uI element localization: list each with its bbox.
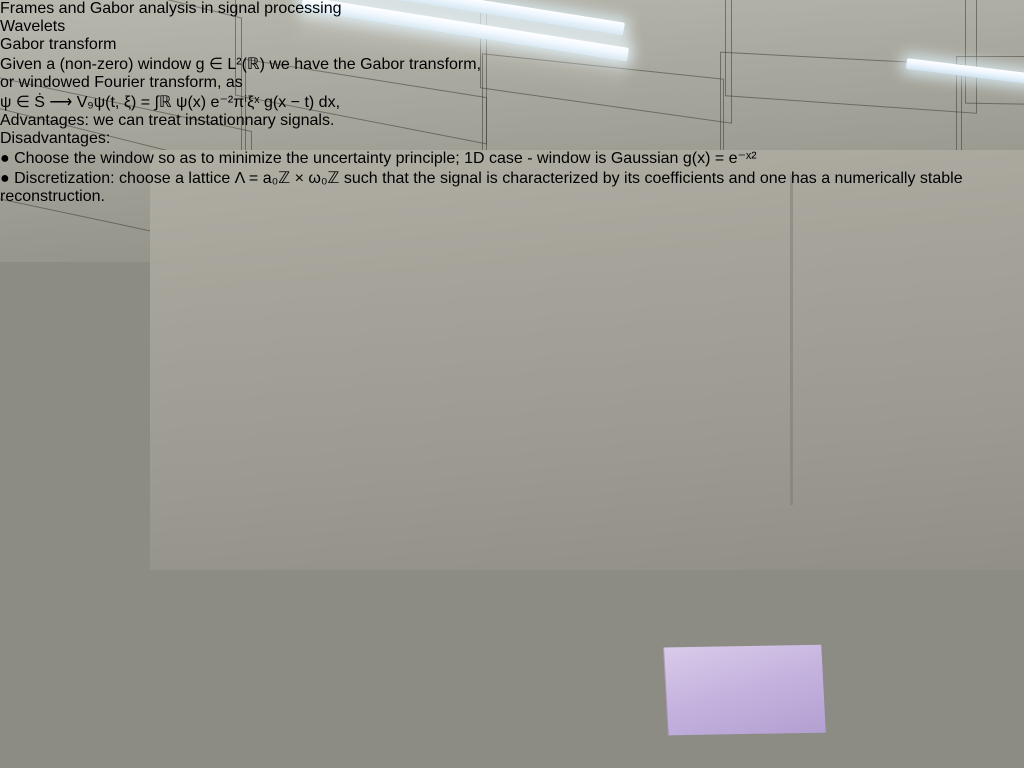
laptop-foreground-document — [663, 645, 826, 736]
laptop-foreground-lid — [663, 645, 827, 756]
laptop-center-keyboard[interactable] — [540, 606, 640, 626]
conference-chair-back[interactable] — [332, 598, 400, 716]
tile-floor — [0, 0, 200, 404]
conference-chair-back[interactable] — [856, 492, 936, 564]
papers[interactable] — [476, 534, 536, 550]
papers[interactable] — [929, 685, 1006, 721]
laptop-center-document — [554, 544, 630, 545]
papers[interactable] — [782, 590, 885, 621]
laptop-center-lid — [554, 544, 635, 609]
laptop-center-screen[interactable] — [554, 544, 630, 545]
conference-chair-back[interactable] — [592, 484, 660, 528]
conference-chair-back[interactable] — [898, 560, 1002, 688]
wooden-chair[interactable] — [118, 651, 228, 762]
seminar-room-photo: Frames and Gabor analysis in signal proc… — [0, 0, 1024, 768]
green-chair-back[interactable] — [960, 486, 1024, 568]
coffee-cup[interactable] — [732, 532, 750, 554]
laptop-foreground-screen[interactable] — [663, 645, 826, 736]
laptop-foreground-keyboard[interactable] — [644, 748, 809, 768]
wall-corner — [790, 175, 793, 505]
coffee-cup[interactable] — [813, 588, 834, 615]
smartphone-on-table[interactable] — [574, 665, 620, 697]
conference-chair-back[interactable] — [520, 486, 584, 528]
